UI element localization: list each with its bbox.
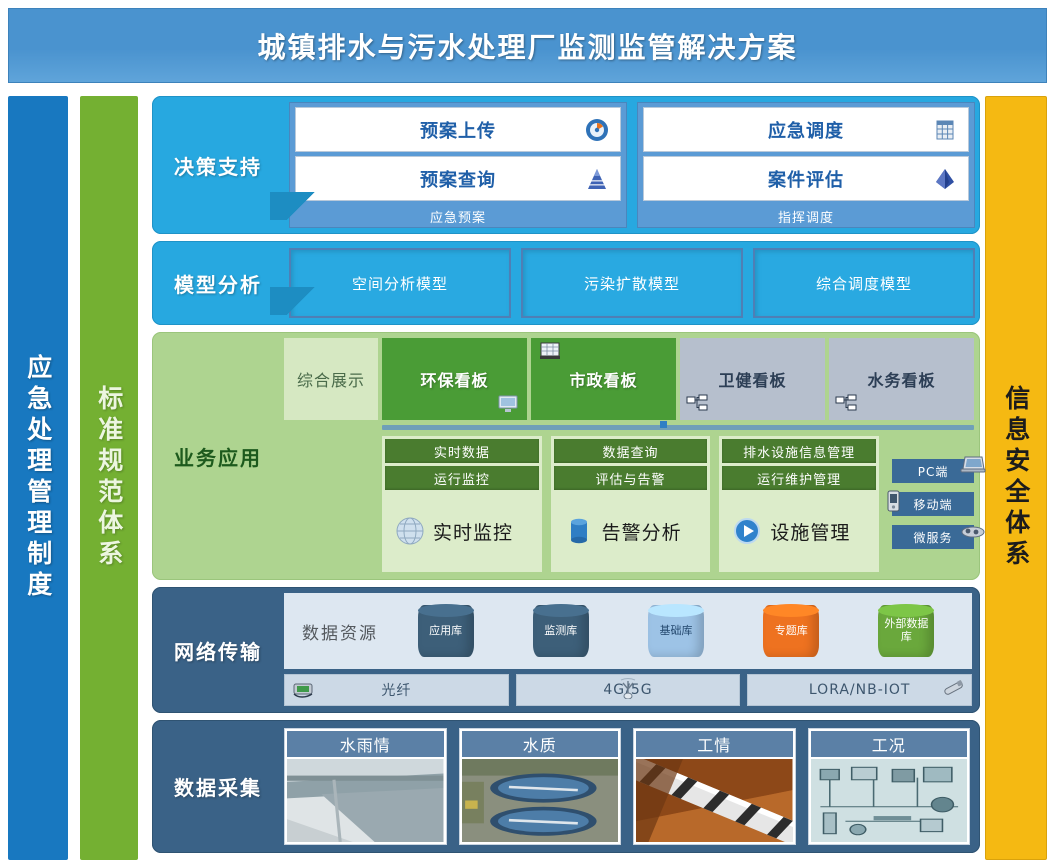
network-link-fiber[interactable]: 光纤 xyxy=(284,674,509,706)
terminal-pc[interactable]: PC端 xyxy=(892,459,974,483)
data-card-hydrology[interactable]: 水雨情 xyxy=(284,728,447,845)
data-card-water-quality[interactable]: 水质 xyxy=(459,728,622,845)
app-main-alarm-analysis-label: 告警分析 xyxy=(602,518,682,545)
app-pill-realtime-data[interactable]: 实时数据 xyxy=(385,439,539,463)
network-link-lora-nbiot[interactable]: LORA/NB-IOT xyxy=(747,674,972,706)
model-card-spatial[interactable]: 空间分析模型 xyxy=(289,248,511,318)
network-links-row: 光纤 4G/5G LORA/NB-IOT xyxy=(284,674,972,706)
services-icon xyxy=(960,521,986,541)
board-municipal[interactable]: 市政看板 xyxy=(531,338,676,420)
sidebar-emergency-management-system: 应急处理管理制度 xyxy=(8,96,68,860)
app-pill-assessment-alarm[interactable]: 评估与告警 xyxy=(554,466,708,490)
app-main-facility-management[interactable]: 设施管理 xyxy=(722,493,876,569)
data-card-hydrology-title: 水雨情 xyxy=(287,731,444,757)
laptop-icon xyxy=(960,455,986,475)
database-basic-label: 基础库 xyxy=(660,625,693,638)
model-card-pollution-diffusion[interactable]: 污染扩散模型 xyxy=(521,248,743,318)
database-basic[interactable]: 基础库 xyxy=(648,605,704,657)
decision-card-case-evaluation-label: 案件评估 xyxy=(768,166,844,192)
model-card-integrated-dispatch[interactable]: 综合调度模型 xyxy=(753,248,975,318)
globe-icon xyxy=(393,514,427,548)
app-main-facility-management-label: 设施管理 xyxy=(770,518,850,545)
page-title: 城镇排水与污水处理厂监测监管解决方案 xyxy=(257,26,797,66)
decision-card-plan-upload[interactable]: 预案上传 xyxy=(295,107,621,152)
network-node-icon xyxy=(686,394,708,414)
terminal-microservice-label: 微服务 xyxy=(914,529,953,546)
app-pill-data-query[interactable]: 数据查询 xyxy=(554,439,708,463)
network-link-4g5g[interactable]: 4G/5G xyxy=(516,674,741,706)
app-main-realtime-monitoring[interactable]: 实时监控 xyxy=(385,493,539,569)
data-card-project-status-title: 工情 xyxy=(636,731,793,757)
database-slot: 专题库 xyxy=(736,605,847,657)
canal-embankment-photo xyxy=(287,759,444,842)
database-slot: 应用库 xyxy=(390,605,501,657)
pipeline-trench-photo xyxy=(636,759,793,842)
model-card-pollution-diffusion-label: 污染扩散模型 xyxy=(584,273,680,294)
board-water-affairs[interactable]: 水务看板 xyxy=(829,338,974,420)
boards-group-label: 综合展示 xyxy=(284,338,378,420)
app-column-realtime: 实时数据 运行监控 实时监控 xyxy=(382,436,542,572)
business-apps-row: 实时数据 运行监控 实时监控 数据查询 评估与告警 xyxy=(284,436,974,572)
layer-network-transmission: 网络传输 数据资源 应用库 监测库 基础库 xyxy=(152,587,980,713)
decision-group-emergency-plan-label: 应急预案 xyxy=(295,205,621,227)
app-main-realtime-monitoring-label: 实时监控 xyxy=(433,518,513,545)
database-application-label: 应用库 xyxy=(429,625,462,638)
decision-card-emergency-dispatch[interactable]: 应急调度 xyxy=(643,107,969,152)
layer-business-application-label: 业务应用 xyxy=(152,442,284,471)
network-link-fiber-label: 光纤 xyxy=(381,680,411,700)
layer-model-analysis: 模型分析 空间分析模型 污染扩散模型 综合调度模型 xyxy=(152,241,980,325)
database-thematic-label: 专题库 xyxy=(775,625,808,638)
database-thematic[interactable]: 专题库 xyxy=(763,605,819,657)
monitor-icon xyxy=(497,394,519,414)
decision-support-body: 预案上传 预案查询 应急预案 应急调度 xyxy=(284,96,980,234)
terminal-microservice[interactable]: 微服务 xyxy=(892,525,974,549)
app-column-alarm: 数据查询 评估与告警 告警分析 xyxy=(551,436,711,572)
data-card-operating-condition[interactable]: 工况 xyxy=(808,728,971,845)
app-column-facility: 排水设施信息管理 运行维护管理 设施管理 xyxy=(719,436,879,572)
sidebar-emergency-label: 应急处理管理制度 xyxy=(23,354,53,602)
terminal-mobile-label: 移动端 xyxy=(914,496,953,513)
layer-data-collection-label: 数据采集 xyxy=(152,772,284,801)
antenna-icon xyxy=(615,677,641,699)
decision-card-plan-upload-label: 预案上传 xyxy=(420,117,496,143)
decision-group-command-dispatch: 应急调度 案件评估 指挥调度 xyxy=(637,102,975,228)
app-main-alarm-analysis[interactable]: 告警分析 xyxy=(554,493,708,569)
dashboard-boards-row: 综合展示 环保看板 市政看板 卫健看板 xyxy=(284,338,974,420)
layer-data-collection: 数据采集 水雨情 水质 xyxy=(152,720,980,853)
decision-group-emergency-plan: 预案上传 预案查询 应急预案 xyxy=(289,102,627,228)
database-external[interactable]: 外部数据库 xyxy=(878,605,934,657)
diamond-evaluate-icon xyxy=(932,166,958,192)
decision-card-emergency-dispatch-label: 应急调度 xyxy=(768,117,844,143)
database-slot: 基础库 xyxy=(620,605,731,657)
board-environment-label: 环保看板 xyxy=(420,367,488,391)
terminal-list: PC端 移动端 微服务 xyxy=(888,436,974,572)
scada-schematic-photo xyxy=(811,759,968,842)
database-slot: 监测库 xyxy=(505,605,616,657)
sidebar-standard-specification-system: 标准规范体系 xyxy=(80,96,138,860)
network-transmission-body: 数据资源 应用库 监测库 基础库 xyxy=(284,587,980,713)
layer-network-transmission-label: 网络传输 xyxy=(152,636,284,665)
model-analysis-body: 空间分析模型 污染扩散模型 综合调度模型 xyxy=(284,241,980,325)
database-icon xyxy=(562,514,596,548)
data-collection-body: 水雨情 水质 xyxy=(284,720,980,853)
terminal-pc-label: PC端 xyxy=(918,463,949,480)
app-pill-drainage-facility-info[interactable]: 排水设施信息管理 xyxy=(722,439,876,463)
fiber-optic-icon xyxy=(291,679,317,701)
terminal-mobile[interactable]: 移动端 xyxy=(892,492,974,516)
database-external-label: 外部数据库 xyxy=(881,618,931,643)
model-card-integrated-dispatch-label: 综合调度模型 xyxy=(816,273,912,294)
model-card-spatial-label: 空间分析模型 xyxy=(352,273,448,294)
data-card-water-quality-title: 水质 xyxy=(462,731,619,757)
board-municipal-label: 市政看板 xyxy=(569,367,637,391)
screen-icon xyxy=(539,342,561,362)
decision-group-command-dispatch-label: 指挥调度 xyxy=(643,205,969,227)
board-health[interactable]: 卫健看板 xyxy=(680,338,825,420)
layer-decision-support-label: 决策支持 xyxy=(152,151,284,180)
decision-card-plan-query-label: 预案查询 xyxy=(420,166,496,192)
sidebar-standard-label: 标准规范体系 xyxy=(94,385,124,571)
layer-model-analysis-label: 模型分析 xyxy=(152,269,284,298)
business-application-body: 综合展示 环保看板 市政看板 卫健看板 xyxy=(284,332,980,580)
board-environment[interactable]: 环保看板 xyxy=(382,338,527,420)
network-node-icon xyxy=(835,394,857,414)
app-pill-operation-monitor[interactable]: 运行监控 xyxy=(385,466,539,490)
upload-gauge-icon xyxy=(584,117,610,143)
layer-business-application: 业务应用 综合展示 环保看板 市政看板 卫健看板 xyxy=(152,332,980,580)
architecture-stack: 决策支持 预案上传 预案查询 应急预案 xyxy=(152,96,980,860)
sidebar-information-security-system: 信息安全体系 xyxy=(985,96,1047,860)
boards-divider xyxy=(382,425,974,430)
data-card-project-status[interactable]: 工情 xyxy=(633,728,796,845)
database-application[interactable]: 应用库 xyxy=(418,605,474,657)
database-slot: 外部数据库 xyxy=(851,605,962,657)
decision-card-case-evaluation[interactable]: 案件评估 xyxy=(643,156,969,201)
decision-card-plan-query[interactable]: 预案查询 xyxy=(295,156,621,201)
database-monitoring[interactable]: 监测库 xyxy=(533,605,589,657)
database-monitoring-label: 监测库 xyxy=(544,625,577,638)
data-card-operating-condition-title: 工况 xyxy=(811,731,968,757)
board-water-affairs-label: 水务看板 xyxy=(867,367,935,391)
app-pill-operation-maintenance[interactable]: 运行维护管理 xyxy=(722,466,876,490)
title-banner: 城镇排水与污水处理厂监测监管解决方案 xyxy=(8,8,1047,83)
board-health-label: 卫健看板 xyxy=(718,367,786,391)
sidebar-security-label: 信息安全体系 xyxy=(1001,385,1031,571)
mobile-phone-icon xyxy=(880,490,906,510)
pyramid-chart-icon xyxy=(584,166,610,192)
data-resources-label: 数据资源 xyxy=(294,619,386,644)
play-circle-icon xyxy=(730,514,764,548)
sedimentation-tanks-photo xyxy=(462,759,619,842)
data-resources-row: 数据资源 应用库 监测库 基础库 xyxy=(284,593,972,669)
sensor-probe-icon xyxy=(941,677,967,699)
layer-decision-support: 决策支持 预案上传 预案查询 应急预案 xyxy=(152,96,980,234)
grid-table-icon xyxy=(932,117,958,143)
network-link-lora-nbiot-label: LORA/NB-IOT xyxy=(809,682,911,698)
